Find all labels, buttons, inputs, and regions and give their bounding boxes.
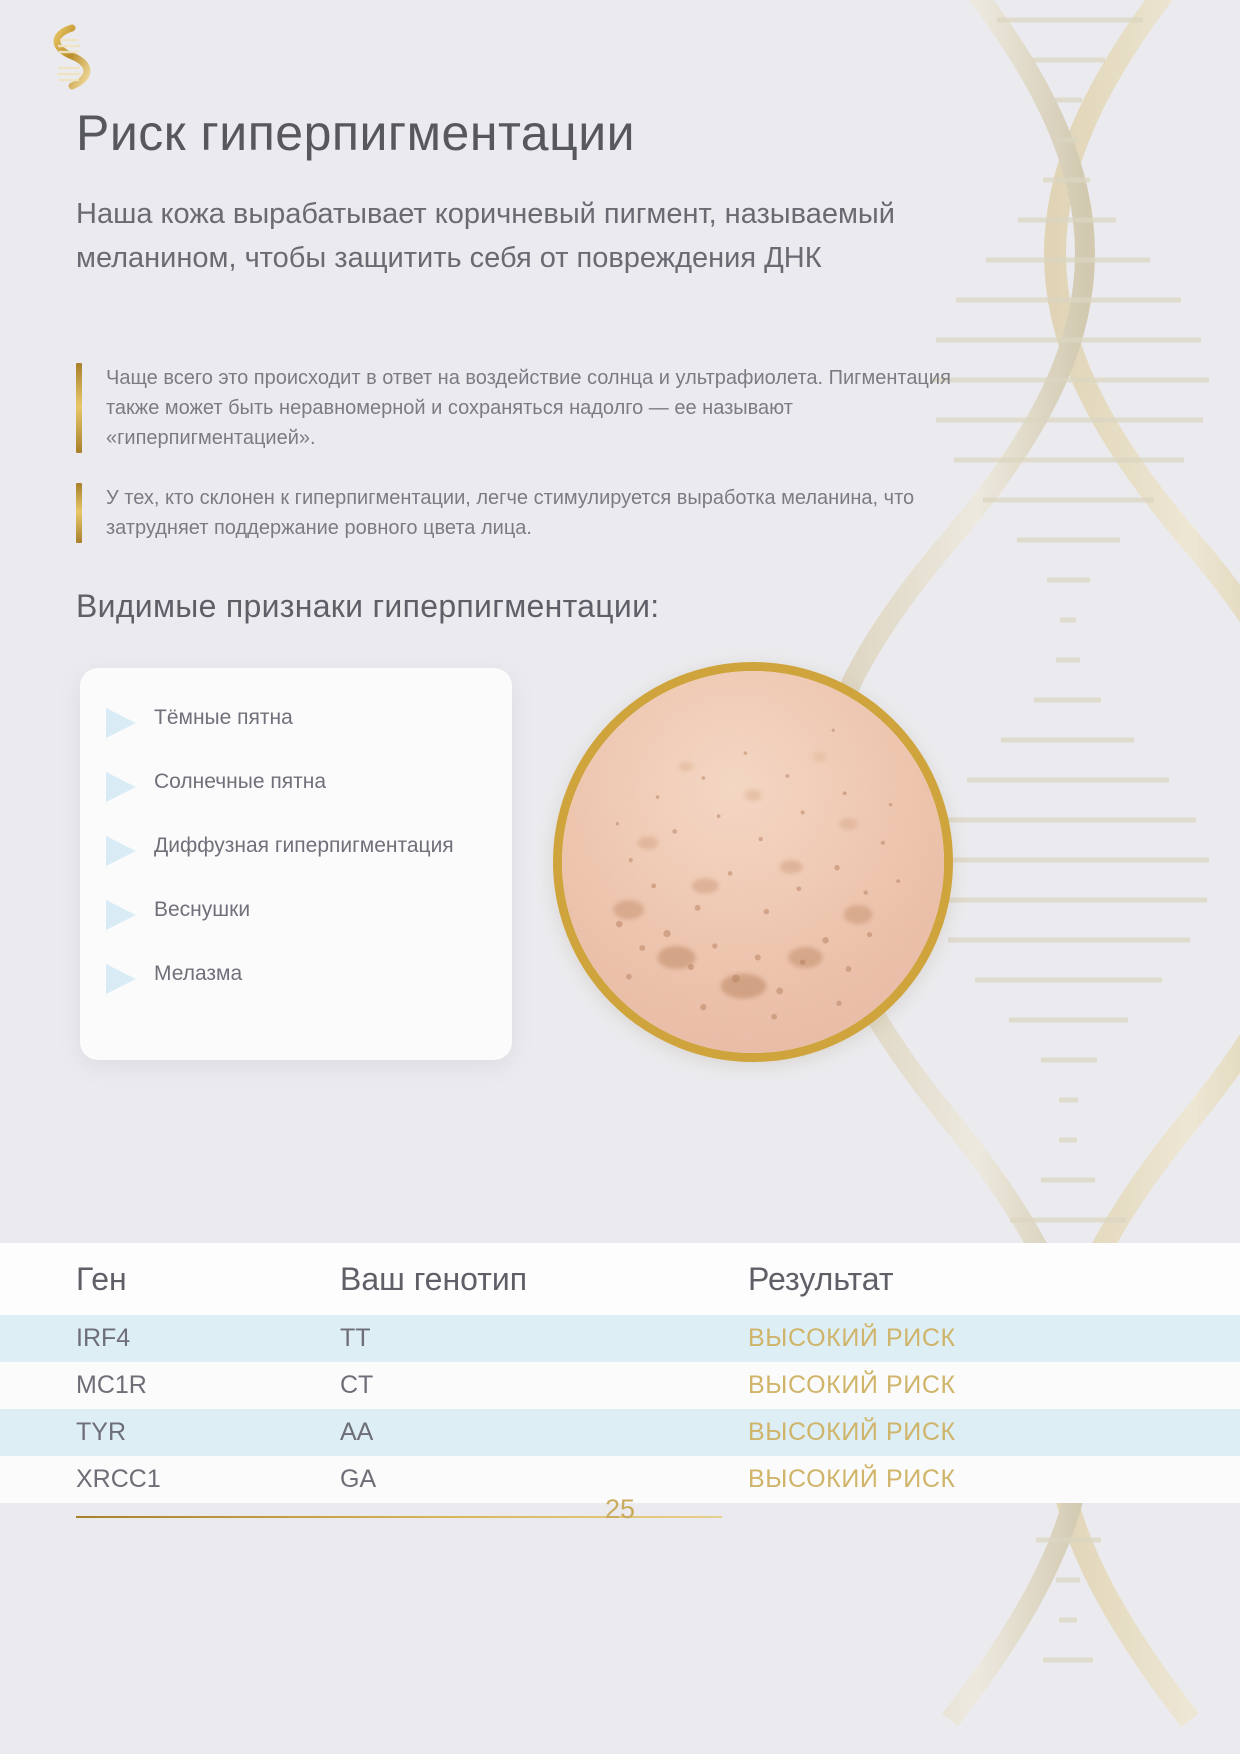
list-item-label: Тёмные пятна [154,702,293,734]
gold-accent-bar [76,363,82,453]
cell-genotype: GA [340,1465,748,1494]
cell-result: ВЫСОКИЙ РИСК [748,1418,1240,1447]
list-item: Тёмные пятна [106,702,512,738]
triangle-right-icon [106,836,136,866]
cell-gene: XRCC1 [0,1465,340,1494]
column-header-genotype: Ваш генотип [340,1261,748,1298]
page-title: Риск гиперпигментации [76,104,635,162]
list-item: Солнечные пятна [106,766,512,802]
cell-genotype: CT [340,1371,748,1400]
signs-card: Тёмные пятна Солнечные пятна Диффузная г… [80,668,512,1060]
cell-genotype: TT [340,1324,748,1353]
triangle-right-icon [106,772,136,802]
triangle-right-icon [106,708,136,738]
cell-result: ВЫСОКИЙ РИСК [748,1324,1240,1353]
signs-list: Тёмные пятна Солнечные пятна Диффузная г… [80,668,512,994]
quote-text-2: У тех, кто склонен к гиперпигментации, л… [106,483,1006,543]
triangle-right-icon [106,900,136,930]
table-row: IRF4 TT ВЫСОКИЙ РИСК [0,1315,1240,1362]
list-item-label: Веснушки [154,894,250,926]
skin-photo [553,662,953,1062]
cell-result: ВЫСОКИЙ РИСК [748,1371,1240,1400]
list-item-label: Диффузная гиперпигментация [154,830,454,862]
quote-block-2: У тех, кто склонен к гиперпигментации, л… [76,483,1006,543]
intro-paragraph: Наша кожа вырабатывает коричневый пигмен… [76,192,956,280]
dna-helix-icon [38,22,92,94]
page-number: 25 [0,1494,1240,1525]
genotype-table: Ген Ваш генотип Результат IRF4 TT ВЫСОКИ… [0,1243,1240,1503]
list-item-label: Солнечные пятна [154,766,326,798]
list-item: Диффузная гиперпигментация [106,830,512,866]
quote-text-1: Чаще всего это происходит в ответ на воз… [106,363,1006,453]
table-row: TYR AA ВЫСОКИЙ РИСК [0,1409,1240,1456]
cell-gene: TYR [0,1418,340,1447]
quote-block-1: Чаще всего это происходит в ответ на воз… [76,363,1006,453]
list-item: Мелазма [106,958,512,994]
cell-genotype: AA [340,1418,748,1447]
gold-accent-bar [76,483,82,543]
list-item: Веснушки [106,894,512,930]
table-header-row: Ген Ваш генотип Результат [0,1243,1240,1315]
cell-gene: MC1R [0,1371,340,1400]
cell-gene: IRF4 [0,1324,340,1353]
cell-result: ВЫСОКИЙ РИСК [748,1465,1240,1494]
list-item-label: Мелазма [154,958,242,990]
table-row: MC1R CT ВЫСОКИЙ РИСК [0,1362,1240,1409]
column-header-gene: Ген [0,1261,340,1298]
triangle-right-icon [106,964,136,994]
report-page: Риск гиперпигментации Наша кожа вырабаты… [0,0,1240,1754]
column-header-result: Результат [748,1261,1240,1298]
signs-heading: Видимые признаки гиперпигментации: [76,588,659,625]
